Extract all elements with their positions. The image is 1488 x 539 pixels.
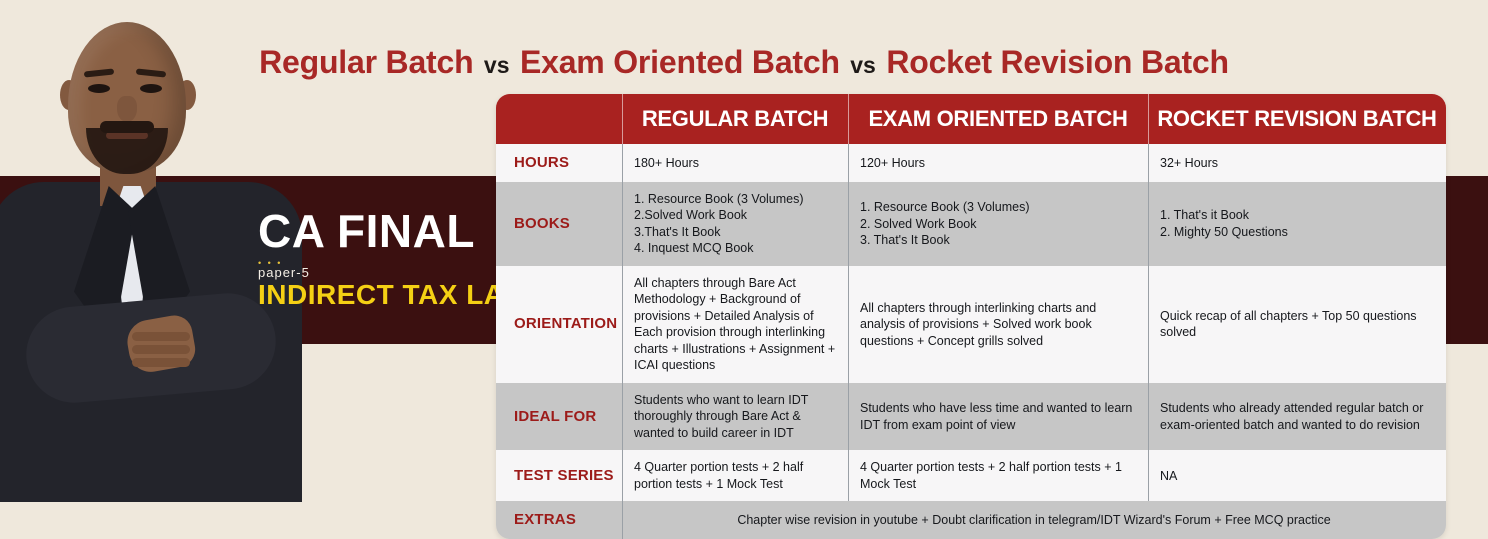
- table-body: HOURS180+ Hours120+ Hours32+ HoursBOOKS1…: [496, 144, 1446, 501]
- table-row: IDEAL FORStudents who want to learn IDT …: [496, 383, 1446, 451]
- row-cell-col2: 4 Quarter portion tests + 2 half portion…: [848, 450, 1148, 501]
- extras-value: Chapter wise revision in youtube + Doubt…: [622, 501, 1446, 539]
- header-rocket-revision-batch: ROCKET REVISION BATCH: [1148, 94, 1446, 144]
- table-row: BOOKS1. Resource Book (3 Volumes)2.Solve…: [496, 182, 1446, 266]
- headline-vs-1: vs: [478, 52, 516, 78]
- row-cell-col3: Students who already attended regular ba…: [1148, 383, 1446, 451]
- row-cell-col3: 1. That's it Book2. Mighty 50 Questions: [1148, 182, 1446, 266]
- table-header-row: REGULAR BATCH EXAM ORIENTED BATCH ROCKET…: [496, 94, 1446, 144]
- finger-2: [132, 345, 190, 354]
- row-cell-col2: 120+ Hours: [848, 144, 1148, 182]
- row-cell-col3: Quick recap of all chapters + Top 50 que…: [1148, 266, 1446, 383]
- row-label: HOURS: [496, 144, 622, 182]
- comparison-table: REGULAR BATCH EXAM ORIENTED BATCH ROCKET…: [496, 94, 1446, 539]
- row-label: ORIENTATION: [496, 266, 622, 383]
- row-cell-col1: 4 Quarter portion tests + 2 half portion…: [622, 450, 848, 501]
- header-exam-oriented-batch: EXAM ORIENTED BATCH: [848, 94, 1148, 144]
- row-label: BOOKS: [496, 182, 622, 266]
- mouth: [106, 132, 148, 139]
- table-row: HOURS180+ Hours120+ Hours32+ Hours: [496, 144, 1446, 182]
- headline-part-2: Exam Oriented Batch: [520, 44, 840, 80]
- page-title: Regular Batch vs Exam Oriented Batch vs …: [0, 44, 1488, 81]
- row-cell-col1: 180+ Hours: [622, 144, 848, 182]
- row-label: IDEAL FOR: [496, 383, 622, 451]
- table-row: ORIENTATIONAll chapters through Bare Act…: [496, 266, 1446, 383]
- row-label-extras: EXTRAS: [496, 501, 622, 539]
- header-regular-batch: REGULAR BATCH: [622, 94, 848, 144]
- row-cell-col2: 1. Resource Book (3 Volumes)2. Solved Wo…: [848, 182, 1148, 266]
- header-label-column: [496, 94, 622, 144]
- finger-1: [132, 332, 190, 341]
- moustache: [100, 121, 154, 133]
- row-cell-col1: Students who want to learn IDT thoroughl…: [622, 383, 848, 451]
- headline-vs-2: vs: [844, 52, 882, 78]
- row-cell-col1: 1. Resource Book (3 Volumes)2.Solved Wor…: [622, 182, 848, 266]
- row-label: TEST SERIES: [496, 450, 622, 501]
- headline-part-1: Regular Batch: [259, 44, 473, 80]
- row-cell-col2: Students who have less time and wanted t…: [848, 383, 1148, 451]
- headline-part-3: Rocket Revision Batch: [886, 44, 1229, 80]
- finger-3: [132, 358, 190, 367]
- table-row-extras: EXTRAS Chapter wise revision in youtube …: [496, 501, 1446, 539]
- table-row: TEST SERIES4 Quarter portion tests + 2 h…: [496, 450, 1446, 501]
- row-cell-col1: All chapters through Bare Act Methodolog…: [622, 266, 848, 383]
- row-cell-col3: 32+ Hours: [1148, 144, 1446, 182]
- row-cell-col2: All chapters through interlinking charts…: [848, 266, 1148, 383]
- nose: [117, 96, 137, 122]
- eye-right: [140, 84, 162, 93]
- row-cell-col3: NA: [1148, 450, 1446, 501]
- eye-left: [88, 84, 110, 93]
